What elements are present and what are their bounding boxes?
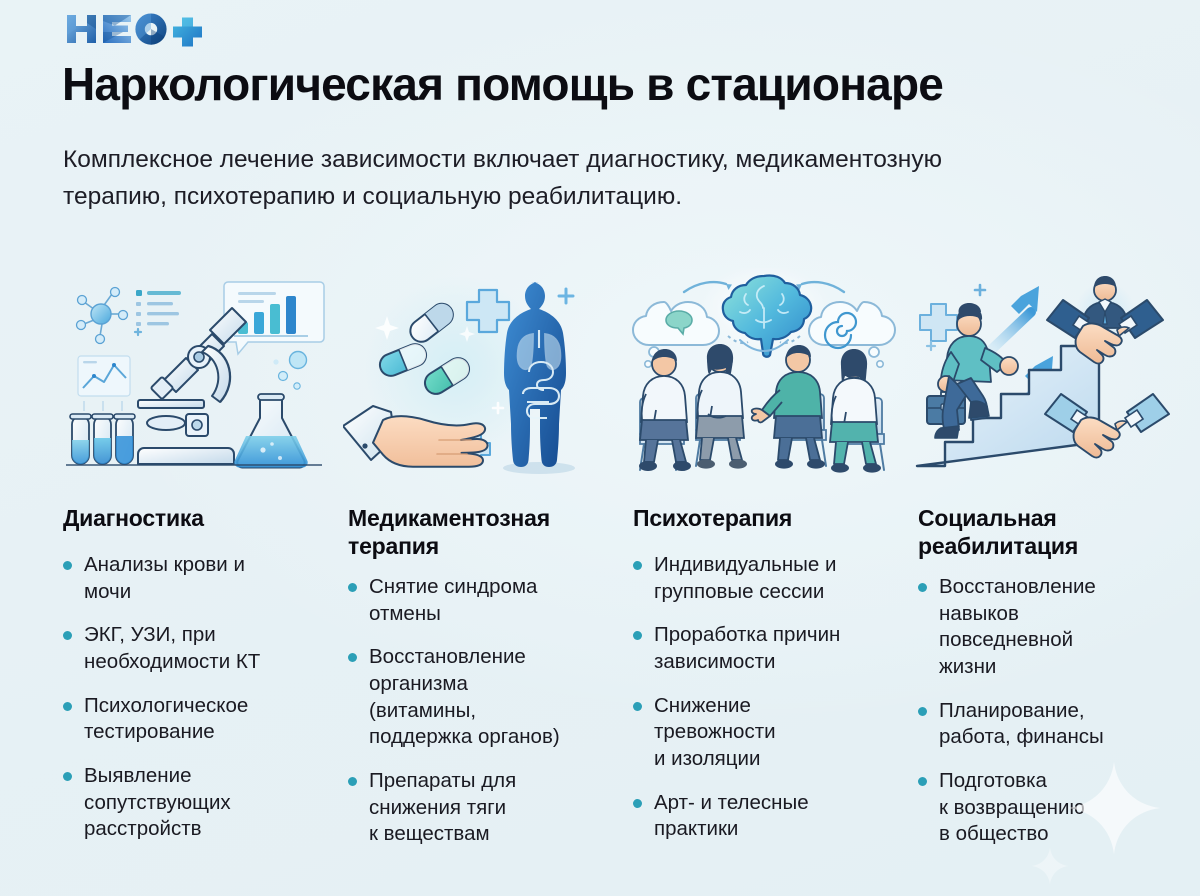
medication-therapy-illustration <box>343 268 615 480</box>
list-item: Препараты для снижения тяги к веществам <box>348 768 598 848</box>
person-seated <box>830 349 884 473</box>
list-item: Выявление сопутствующих расстройств <box>63 763 313 843</box>
test-tubes-icon <box>70 414 135 464</box>
page-title: Наркологическая помощь в стационаре <box>62 60 1152 109</box>
checklist-icon <box>136 290 181 326</box>
bubbles-icon <box>273 352 306 390</box>
list-item: Индивидуальные и групповые сессии <box>633 552 883 605</box>
handshake-icon <box>1045 394 1169 458</box>
bullet-list: Анализы крови и мочи ЭКГ, УЗИ, при необх… <box>63 552 313 843</box>
list-item: Анализы крови и мочи <box>63 552 313 605</box>
infographic-page: Наркологическая помощь в стационаре Комп… <box>0 0 1200 896</box>
list-item: Снижение тревожности и изоляции <box>633 693 883 773</box>
logo-letter-e <box>103 15 131 43</box>
list-item: Восстановление организма (витамины, подд… <box>348 644 598 751</box>
small-plus-icon <box>559 289 573 303</box>
column-title: Психотерапия <box>633 504 888 532</box>
logo-plus-icon <box>173 18 202 47</box>
microscope-icon <box>138 308 246 464</box>
person-seated-therapist <box>752 345 826 469</box>
list-item: ЭКГ, УЗИ, при необходимости КТ <box>63 622 313 675</box>
column-medication-therapy: Медикаментозная терапия Снятие синдрома … <box>337 268 622 868</box>
group-therapy-illustration <box>628 268 900 480</box>
brand-logo <box>63 9 203 49</box>
upward-arrow-icon <box>991 286 1039 350</box>
line-graph-card <box>78 356 130 411</box>
list-item: Арт- и телесные практики <box>633 790 883 843</box>
list-item: Снятие синдрома отмены <box>348 574 598 627</box>
column-title: Социальная реабилитация <box>918 504 1173 560</box>
erlenmeyer-flask-icon <box>234 394 307 468</box>
column-social-rehabilitation: Социальная реабилитация Восстановление н… <box>907 268 1192 868</box>
list-item: Восстановление навыков повседневной жизн… <box>918 574 1168 681</box>
medical-cross-icon <box>920 304 957 341</box>
bullet-list: Снятие синдрома отмены Восстановление ор… <box>348 574 598 848</box>
person-seated <box>696 344 747 469</box>
list-item: Психологическое тестирование <box>63 693 313 746</box>
molecule-core <box>91 304 111 324</box>
list-item: Проработка причин зависимости <box>633 622 883 675</box>
bullet-list: Индивидуальные и групповые сессии Прораб… <box>633 552 883 843</box>
laboratory-diagnostics-illustration <box>58 268 330 480</box>
social-rehabilitation-illustration <box>913 268 1185 480</box>
column-title: Медикаментозная терапия <box>348 504 603 560</box>
small-plus-icon <box>975 285 985 295</box>
column-diagnostics: Диагностика Анализы крови и мочи ЭКГ, УЗ… <box>52 268 337 868</box>
page-subtitle: Комплексное лечение зависимости включает… <box>63 141 943 215</box>
column-psychotherapy: Психотерапия Индивидуальные и групповые … <box>622 268 907 868</box>
small-plus-icon <box>927 342 935 350</box>
logo-letter-o <box>135 14 166 45</box>
list-item: Планирование, работа, финансы <box>918 698 1168 751</box>
topic-columns: Диагностика Анализы крови и мочи ЭКГ, УЗ… <box>52 268 1162 868</box>
logo-letter-n <box>67 15 96 43</box>
list-item: Подготовка к возвращению в общество <box>918 768 1168 848</box>
column-title: Диагностика <box>63 504 318 532</box>
bullet-list: Восстановление навыков повседневной жизн… <box>918 574 1168 848</box>
plus-icon <box>135 329 141 335</box>
